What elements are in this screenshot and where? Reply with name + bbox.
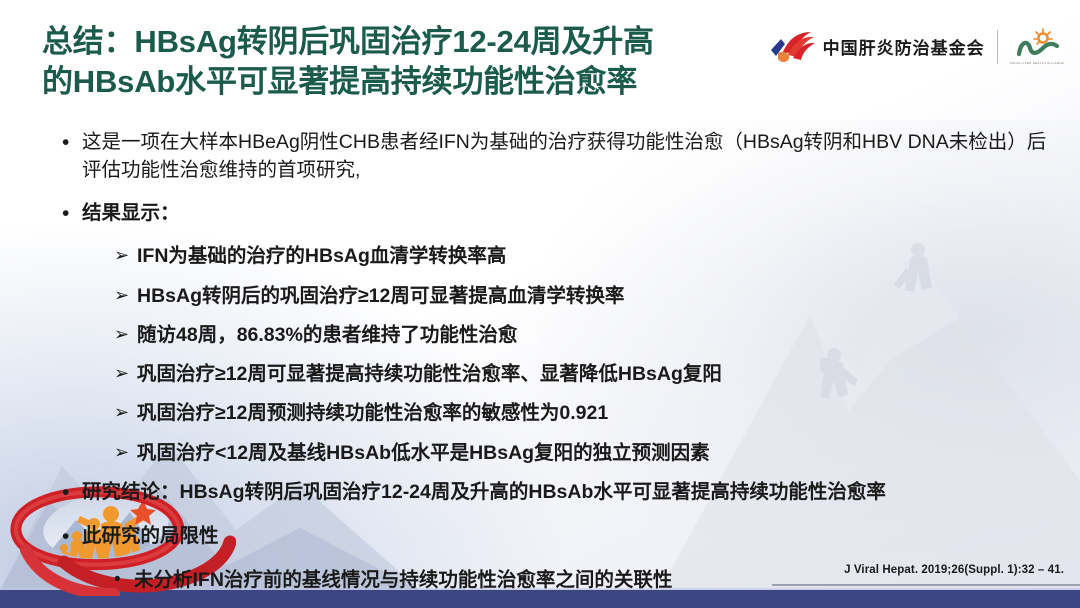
bullet-marker: •: [114, 566, 134, 594]
bullet-intro-text: 这是一项在大样本HBeAg阴性CHB患者经IFN为基础的治疗获得功能性治愈（HB…: [82, 128, 1052, 185]
primary-logo-text: 中国肝炎防治基金会: [823, 34, 985, 59]
bullet-limitations-heading-text: 此研究的局限性: [82, 522, 1052, 550]
list-item-text: IFN为基础的治疗的HBsAg血清学转换率高: [137, 242, 1052, 270]
list-item: ➢ 巩固治疗≥12周预测持续功能性治愈率的敏感性为0.921: [114, 399, 1052, 427]
list-item-text: 随访48周，86.83%的患者维持了功能性治愈: [137, 321, 1052, 349]
hepatitis-foundation-hand-icon: [769, 30, 815, 64]
primary-logo: 中国肝炎防治基金会: [769, 30, 985, 64]
list-item-text: 巩固治疗<12周及基线HBsAb低水平是HBsAg复阳的独立预测因素: [137, 439, 1052, 467]
bullet-conclusion-text: 研究结论：HBsAg转阴后巩固治疗12-24周及升高的HBsAb水平可显著提高持…: [82, 478, 1052, 506]
results-sublist: ➢ IFN为基础的治疗的HBsAg血清学转换率高 ➢ HBsAg转阴后的巩固治疗…: [62, 242, 1052, 467]
list-item: ➢ IFN为基础的治疗的HBsAg血清学转换率高: [114, 242, 1052, 270]
arrow-bullet-icon: ➢: [114, 321, 137, 348]
list-item: ➢ 巩固治疗<12周及基线HBsAb低水平是HBsAg复阳的独立预测因素: [114, 439, 1052, 467]
list-item: ➢ 巩固治疗≥12周可显著提高持续功能性治愈率、显著降低HBsAg复阳: [114, 360, 1052, 388]
presentation-slide: 总结：HBsAg转阴后巩固治疗12-24周及升高 的HBsAb水平可显著提高持续…: [0, 0, 1080, 608]
title-block: 总结：HBsAg转阴后巩固治疗12-24周及升高 的HBsAb水平可显著提高持续…: [42, 22, 782, 103]
page-title: 总结：HBsAg转阴后巩固治疗12-24周及升高 的HBsAb水平可显著提高持续…: [42, 22, 782, 103]
list-item-text: 巩固治疗≥12周预测持续功能性治愈率的敏感性为0.921: [137, 399, 1052, 427]
secondary-logo-subtext: CHINA LIVER HEALTH ALLIANCE: [1010, 61, 1064, 65]
arrow-bullet-icon: ➢: [114, 399, 137, 426]
bullet-results-heading: • 结果显示：: [62, 199, 1052, 229]
source-citation: J Viral Hepat. 2019;26(Suppl. 1):32 – 41…: [844, 564, 1064, 576]
partner-swoosh-sun-icon: [1012, 28, 1062, 60]
list-item: ➢ 随访48周，86.83%的患者维持了功能性治愈: [114, 321, 1052, 349]
logo-divider: [997, 30, 998, 64]
bullet-marker: •: [62, 478, 82, 508]
bullet-conclusion: • 研究结论：HBsAg转阴后巩固治疗12-24周及升高的HBsAb水平可显著提…: [62, 478, 1052, 508]
secondary-logo: CHINA LIVER HEALTH ALLIANCE: [1010, 28, 1064, 65]
bullet-intro: • 这是一项在大样本HBeAg阴性CHB患者经IFN为基础的治疗获得功能性治愈（…: [62, 128, 1052, 185]
bullet-marker: •: [62, 128, 82, 158]
list-item-text: HBsAg转阴后的巩固治疗≥12周可显著提高血清学转换率: [137, 282, 1052, 310]
arrow-bullet-icon: ➢: [114, 439, 137, 466]
arrow-bullet-icon: ➢: [114, 242, 137, 269]
bullet-limitations-heading: • 此研究的局限性: [62, 522, 1052, 552]
bullet-marker: •: [62, 522, 82, 552]
logo-bar: 中国肝炎防治基金会 CHINA LIVER HEALTH ALLIANCE: [769, 28, 1064, 65]
list-item-text: 巩固治疗≥12周可显著提高持续功能性治愈率、显著降低HBsAg复阳: [137, 360, 1052, 388]
bullet-results-heading-text: 结果显示：: [82, 199, 1052, 227]
bullet-marker: •: [62, 199, 82, 229]
arrow-bullet-icon: ➢: [114, 282, 137, 309]
slide-body-content: • 这是一项在大样本HBeAg阴性CHB患者经IFN为基础的治疗获得功能性治愈（…: [62, 128, 1052, 594]
arrow-bullet-icon: ➢: [114, 360, 137, 387]
list-item: ➢ HBsAg转阴后的巩固治疗≥12周可显著提高血清学转换率: [114, 282, 1052, 310]
